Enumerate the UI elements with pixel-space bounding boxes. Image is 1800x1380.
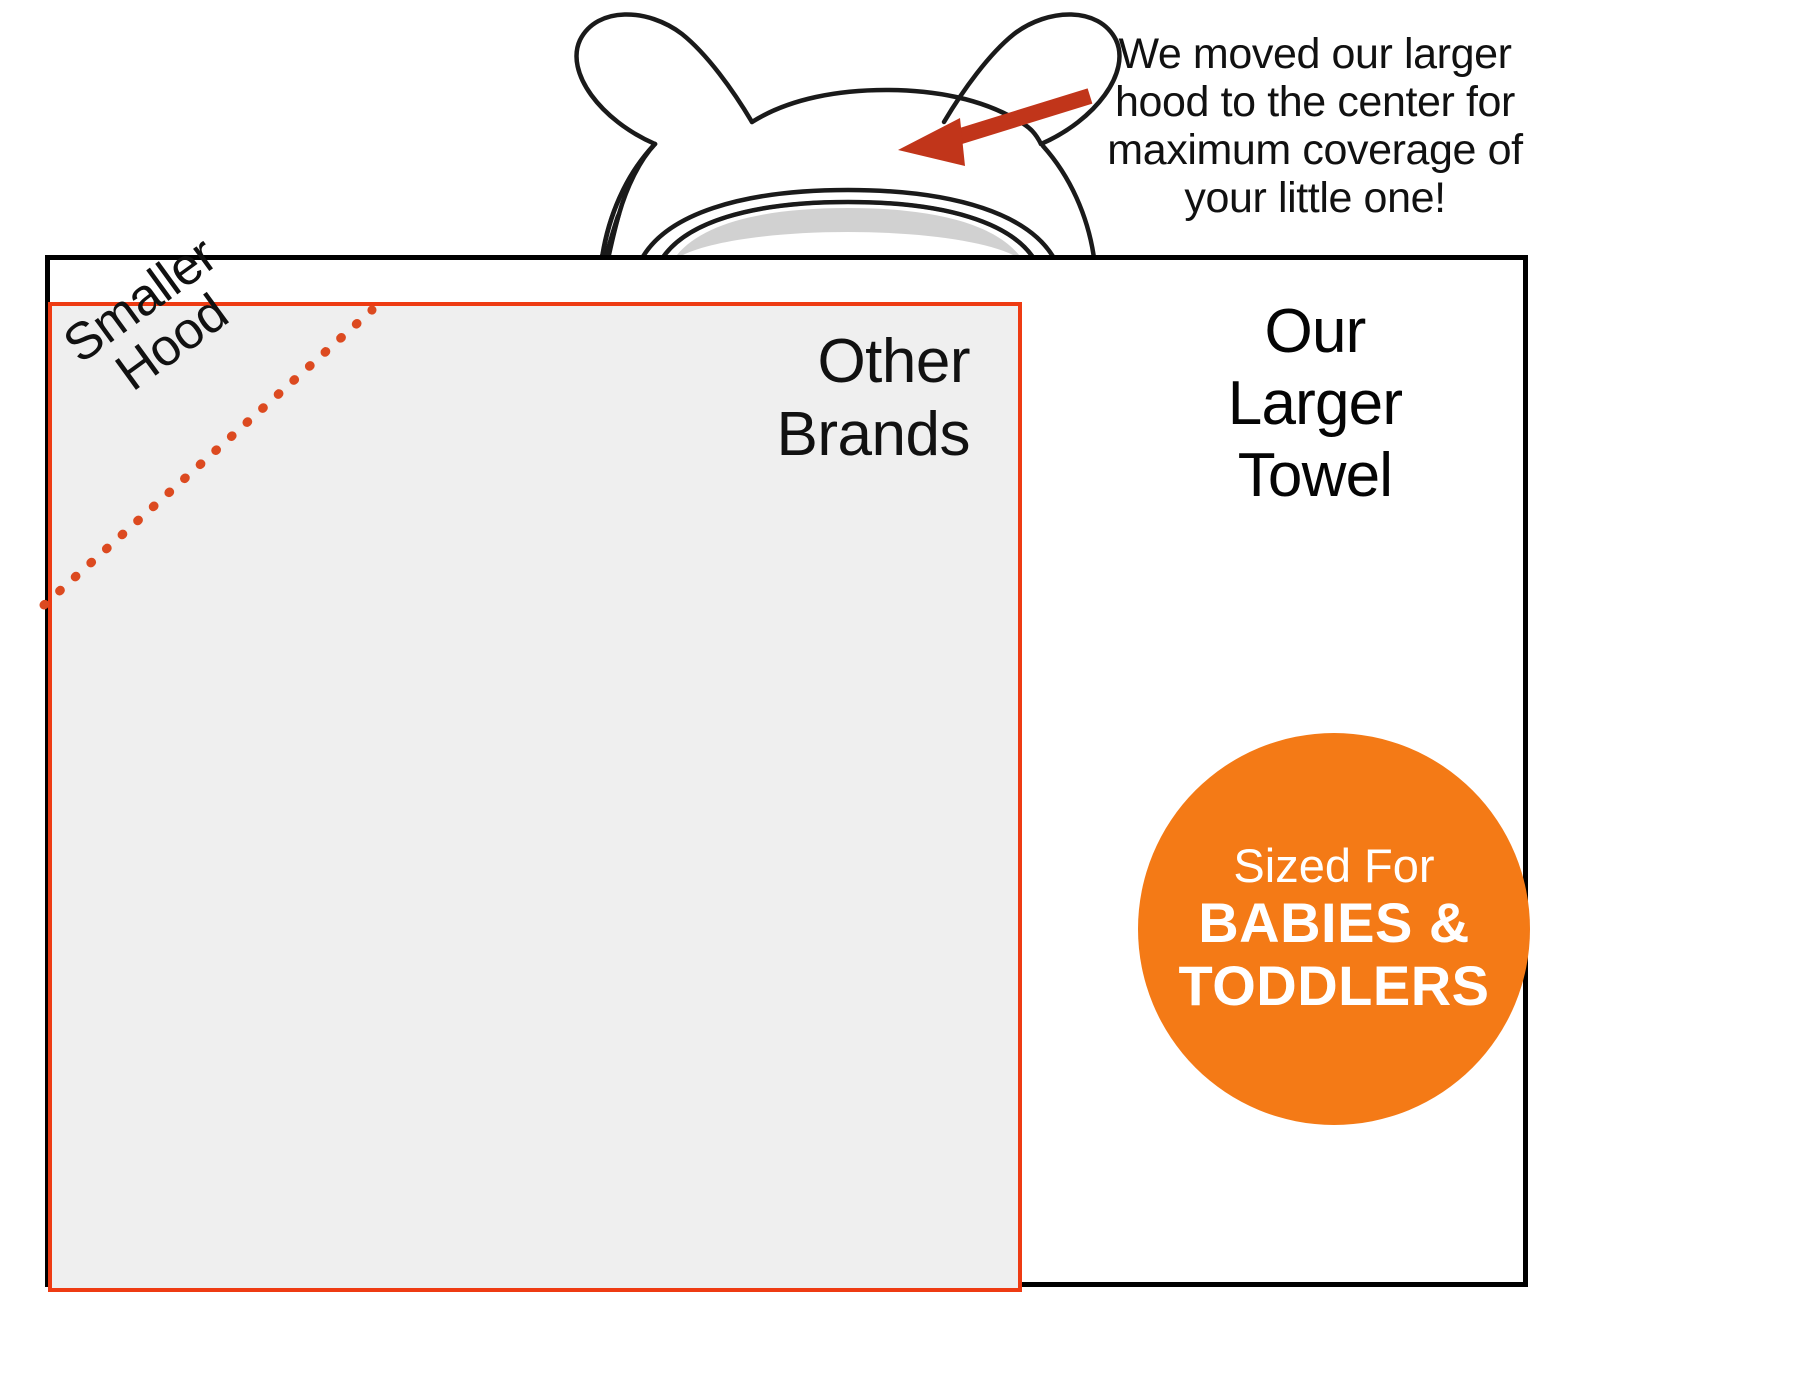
other-brands-label-line1: Other — [520, 325, 970, 398]
callout-line3: maximum coverage of — [1090, 126, 1540, 174]
sized-for-badge: Sized For BABIES & TODDLERS — [1138, 733, 1530, 1125]
larger-towel-label: Our Larger Towel — [1115, 296, 1515, 512]
other-brands-label-line2: Brands — [520, 398, 970, 471]
larger-towel-label-line1: Our — [1115, 296, 1515, 368]
badge-line2: BABIES & — [1198, 892, 1470, 955]
larger-towel-label-line3: Towel — [1115, 440, 1515, 512]
badge-line3: TODDLERS — [1179, 955, 1490, 1018]
badge-line1: Sized For — [1233, 841, 1434, 890]
callout-line1: We moved our larger — [1090, 30, 1540, 78]
larger-towel-label-line2: Larger — [1115, 368, 1515, 440]
other-brands-label: Other Brands — [520, 325, 970, 471]
comparison-diagram: Smaller Hood Other Brands Our Larger Tow… — [0, 0, 1800, 1380]
callout-annotation: We moved our larger hood to the center f… — [1090, 30, 1540, 223]
callout-line4: your little one! — [1090, 174, 1540, 222]
callout-line2: hood to the center for — [1090, 78, 1540, 126]
